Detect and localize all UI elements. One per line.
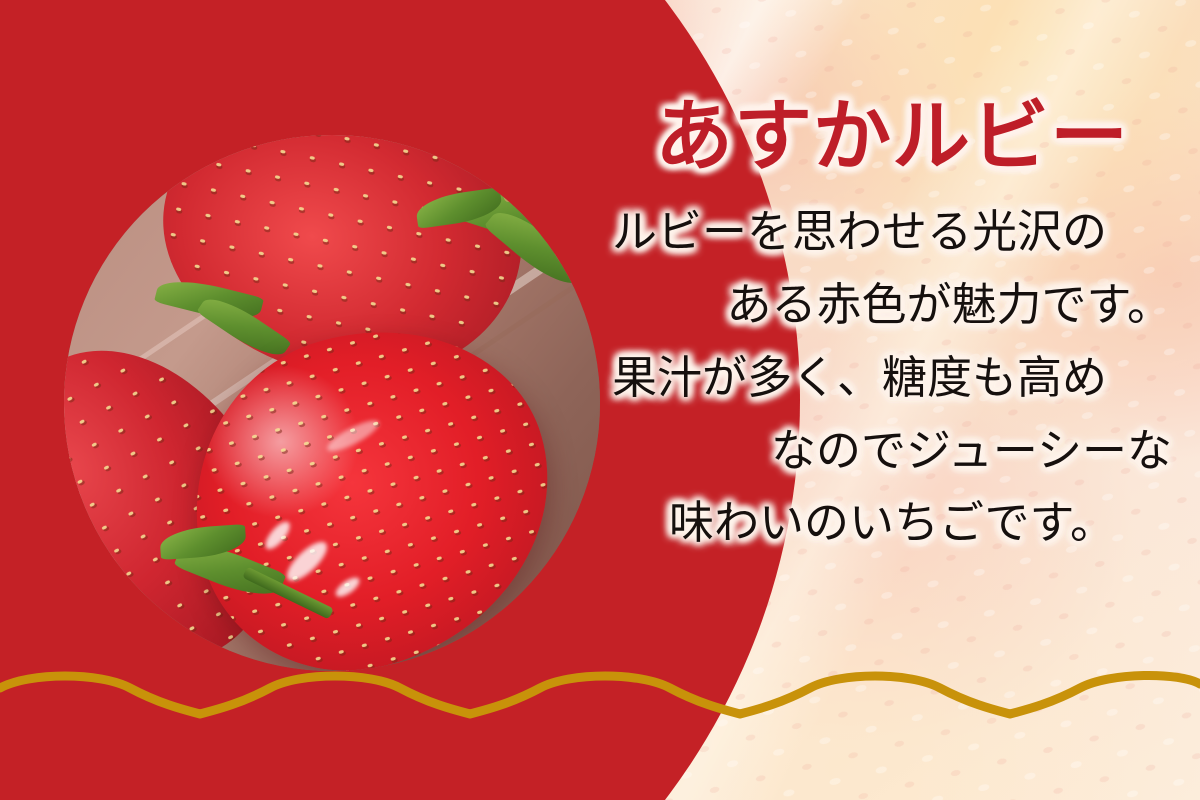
description-line: ルビーを思わせる光沢の xyxy=(612,196,1172,269)
description-line: ある赤色が魅力です。 xyxy=(612,269,1172,342)
product-banner: ご xyxy=(0,0,1200,800)
description-line: なのでジューシーな xyxy=(612,415,1172,488)
description: ルビーを思わせる光沢の ある赤色が魅力です。 果汁が多く、糖度も高め なのでジュ… xyxy=(612,196,1172,560)
copy-block: あすかルビー ルビーを思わせる光沢の ある赤色が魅力です。 果汁が多く、糖度も高… xyxy=(612,96,1172,560)
description-line: 味わいのいちごです。 xyxy=(612,487,1172,560)
strawberry-photo xyxy=(64,135,600,671)
strawberry-photo-art xyxy=(64,135,600,671)
page-title: あすかルビー xyxy=(612,96,1172,178)
description-line: 果汁が多く、糖度も高め xyxy=(612,342,1172,415)
